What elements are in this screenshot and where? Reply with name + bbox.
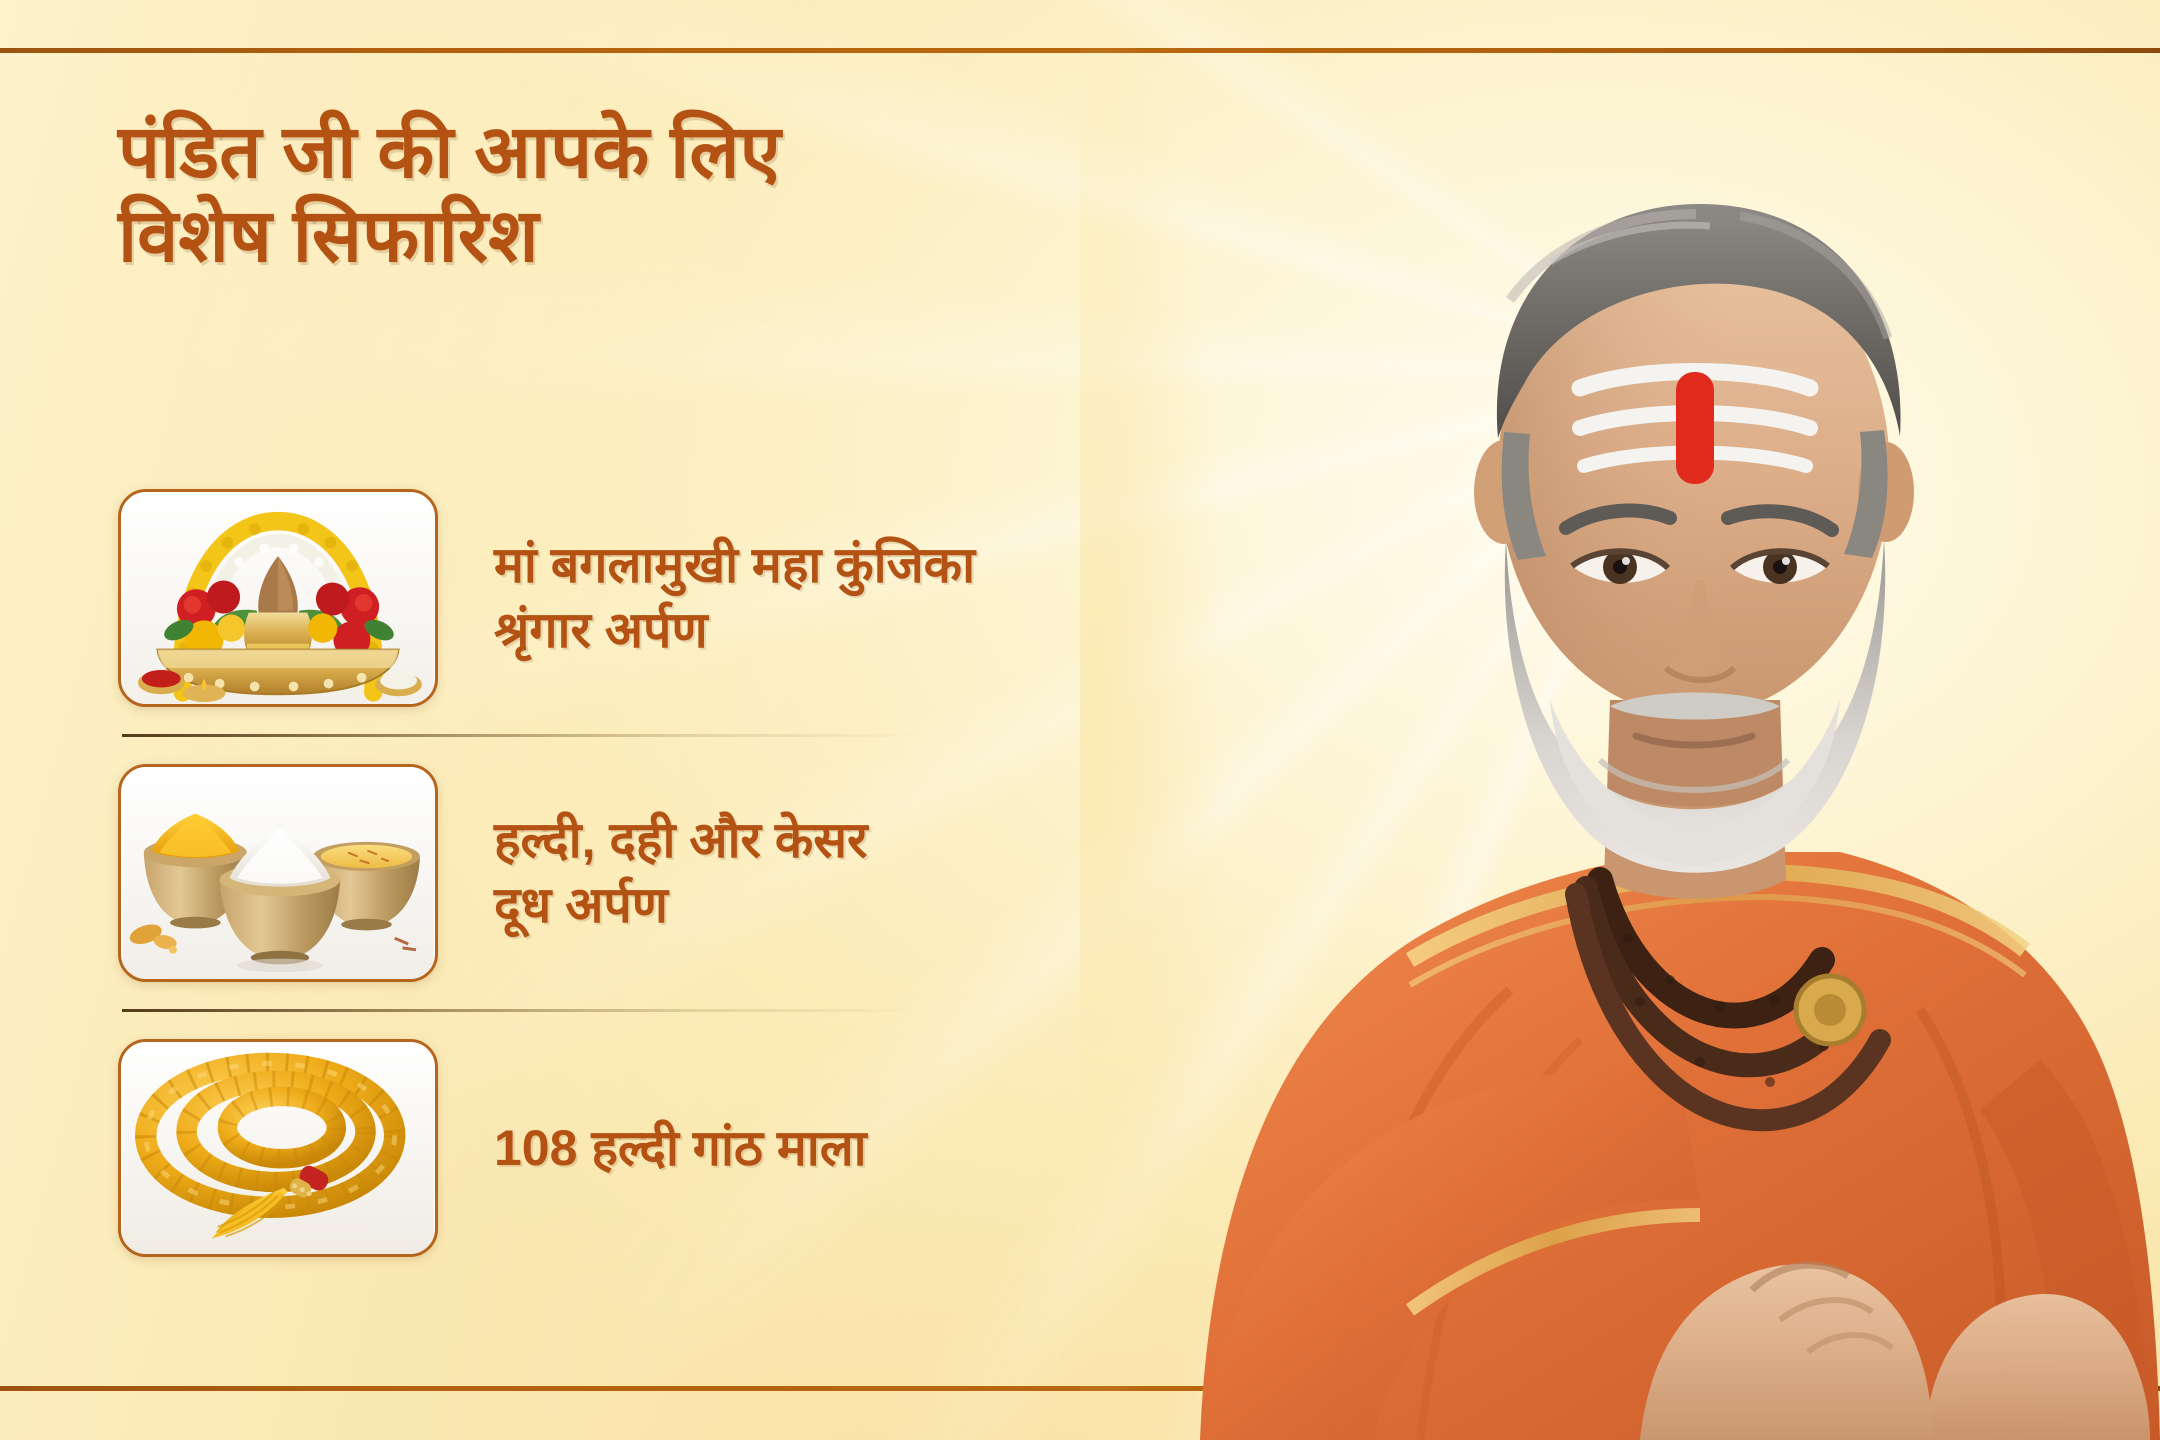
list-item[interactable]: हल्दी, दही और केसर दूध अर्पण	[118, 737, 1208, 1009]
list-item-label-line-1: हल्दी, दही और केसर	[494, 808, 867, 873]
page-title: पंडित जी की आपके लिए विशेष सिफारिश	[118, 110, 1198, 279]
headline-line-2: विशेष सिफारिश	[118, 194, 1198, 278]
turmeric-mala-thumbnail	[118, 1039, 438, 1257]
puja-thali-thumbnail	[118, 489, 438, 707]
list-item-label-line-1: 108 हल्दी गांठ माला	[494, 1116, 867, 1181]
promo-card: पंडित जी की आपके लिए विशेष सिफारिश	[0, 0, 2160, 1440]
bottom-rule	[0, 1386, 2160, 1391]
list-item-label: मां बगलामुखी महा कुंजिका श्रृंगार अर्पण	[494, 533, 975, 663]
recommendation-list: मां बगलामुखी महा कुंजिका श्रृंगार अर्पण	[118, 462, 1208, 1284]
headline-block: पंडित जी की आपके लिए विशेष सिफारिश	[118, 110, 1198, 279]
list-item[interactable]: मां बगलामुखी महा कुंजिका श्रृंगार अर्पण	[118, 462, 1208, 734]
list-item-label-line-1: मां बगलामुखी महा कुंजिका	[494, 533, 975, 598]
list-item[interactable]: 108 हल्दी गांठ माला	[118, 1012, 1208, 1284]
list-item-label-line-2: श्रृंगार अर्पण	[494, 598, 975, 663]
top-rule	[0, 48, 2160, 53]
list-item-label-line-2: दूध अर्पण	[494, 873, 867, 938]
headline-line-1: पंडित जी की आपके लिए	[118, 110, 781, 193]
list-item-label: हल्दी, दही और केसर दूध अर्पण	[494, 808, 867, 938]
list-item-label: 108 हल्दी गांठ माला	[494, 1116, 867, 1181]
bowls-thumbnail	[118, 764, 438, 982]
